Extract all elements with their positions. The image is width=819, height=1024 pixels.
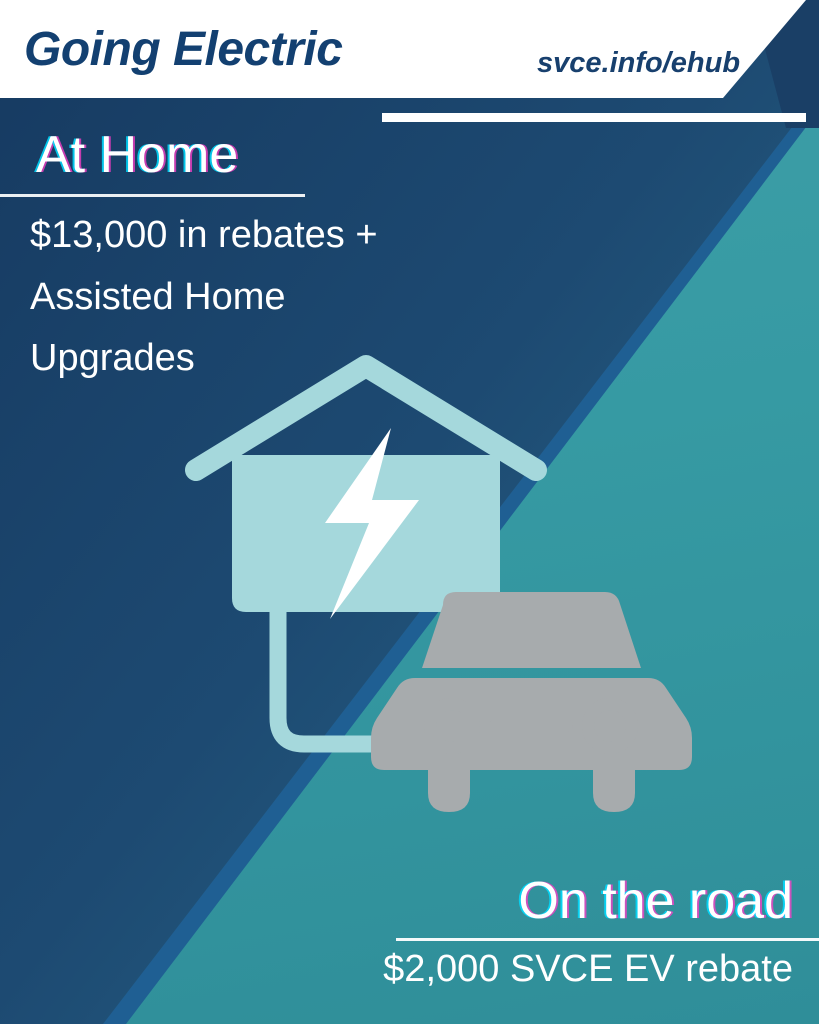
page-title: Going Electric [24, 22, 342, 77]
at-home-body-line-1: $13,000 in rebates + [30, 205, 500, 267]
at-home-body-line-3: Upgrades [30, 328, 500, 390]
on-the-road-underline [396, 938, 819, 941]
header-divider-rule [382, 113, 806, 122]
on-the-road-body: $2,000 SVCE EV rebate [383, 948, 793, 991]
at-home-body: $13,000 in rebates + Assisted Home Upgra… [30, 205, 500, 390]
car-wheel-left-icon [428, 770, 470, 812]
car-cabin-icon [422, 592, 641, 668]
car-wheel-right-icon [593, 770, 635, 812]
on-the-road-heading: On the road [518, 874, 793, 929]
website-url[interactable]: svce.info/ehub [537, 47, 740, 80]
at-home-body-line-2: Assisted Home [30, 267, 500, 329]
car-grille-icon [489, 719, 573, 732]
poster-canvas: Going Electric svce.info/ehub At Home $1… [0, 0, 819, 1024]
at-home-heading: At Home [36, 128, 500, 183]
at-home-section: At Home [0, 128, 500, 183]
at-home-underline [0, 194, 305, 197]
